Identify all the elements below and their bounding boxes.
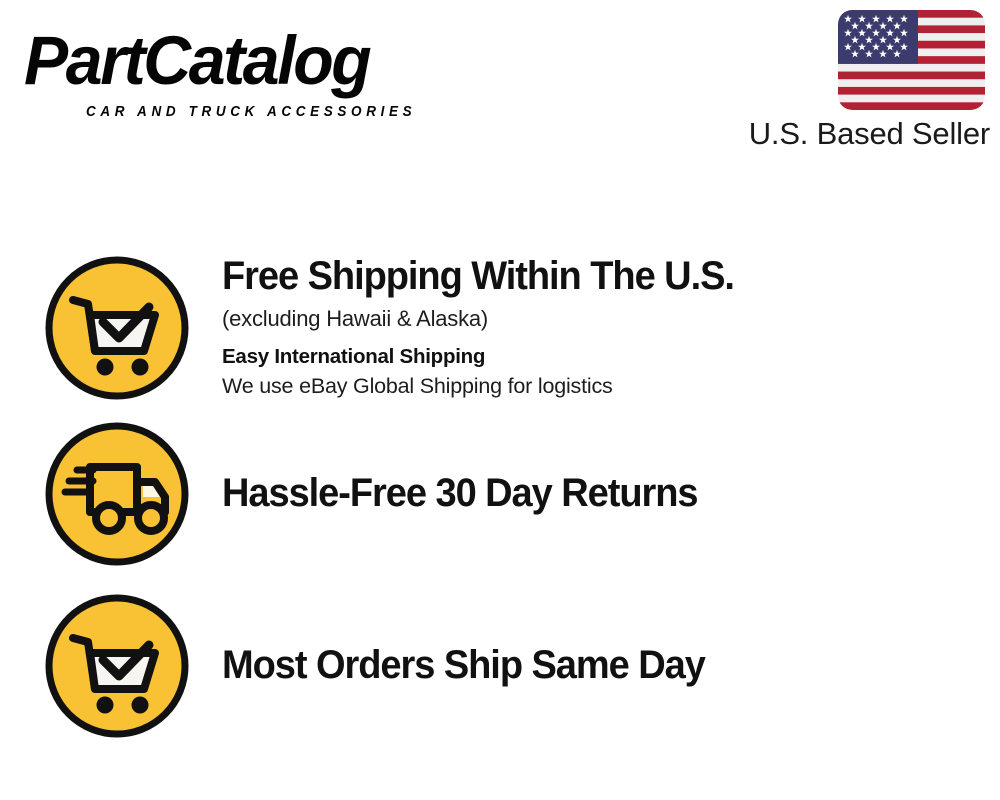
feature-icon-badge — [43, 592, 191, 740]
feature-title: Most Orders Ship Same Day — [222, 642, 961, 688]
page-header: PartCatalog CAR AND TRUCK ACCESSORIES — [0, 0, 1000, 170]
feature-text-block: Most Orders Ship Same Day — [222, 642, 1000, 690]
feature-row: Free Shipping Within The U.S. (excluding… — [0, 248, 1000, 408]
feature-text-block: Free Shipping Within The U.S. (excluding… — [222, 253, 1000, 403]
feature-icon-badge — [43, 420, 191, 568]
feature-row: Hassle-Free 30 Day Returns — [0, 419, 1000, 569]
us-based-seller-label: U.S. Based Seller — [700, 116, 990, 152]
brand-tagline: CAR AND TRUCK ACCESSORIES — [86, 104, 416, 120]
feature-row: Most Orders Ship Same Day — [0, 591, 1000, 741]
shopping-cart-check-icon — [43, 592, 191, 740]
brand-wordmark: PartCatalog — [24, 22, 369, 100]
delivery-truck-icon — [43, 420, 191, 568]
feature-title: Hassle-Free 30 Day Returns — [222, 470, 961, 516]
shopping-cart-check-icon — [43, 254, 191, 402]
feature-icon-badge — [43, 254, 191, 402]
feature-title: Free Shipping Within The U.S. — [222, 253, 961, 299]
us-flag-icon — [838, 10, 985, 110]
feature-subtitle: (excluding Hawaii & Alaska) — [222, 303, 1000, 334]
brand-logo[interactable]: PartCatalog CAR AND TRUCK ACCESSORIES — [24, 22, 494, 117]
feature-text-block: Hassle-Free 30 Day Returns — [222, 470, 1000, 518]
feature-sub-detail: We use eBay Global Shipping for logistic… — [222, 371, 1000, 401]
feature-sub-heading: Easy International Shipping — [222, 342, 1000, 371]
us-flag-badge — [838, 10, 985, 110]
